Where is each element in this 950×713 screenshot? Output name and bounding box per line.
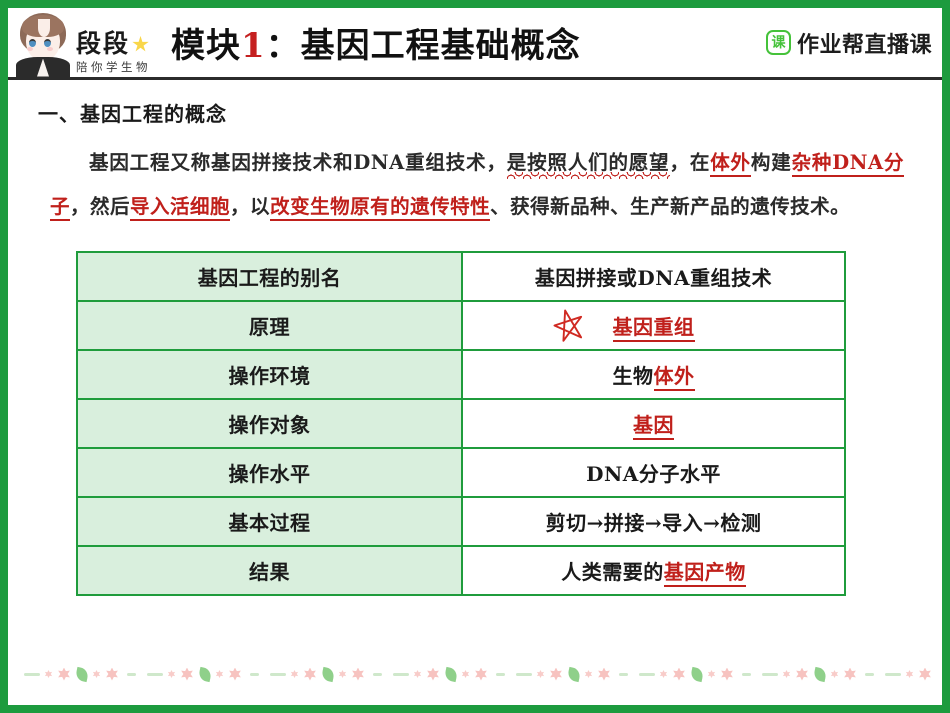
value-plain: 剪切→拼接→导入→检测 <box>546 511 762 535</box>
flower-icon <box>216 670 224 678</box>
table-cell-value: 基因 <box>462 399 845 448</box>
table-cell-value: 剪切→拼接→导入→检测 <box>462 497 845 546</box>
logo-tagline: 陪你学生物 <box>76 59 151 75</box>
deco-unit <box>291 668 412 681</box>
para-highlight-4: 改变生物原有的遗传特性 <box>270 195 490 221</box>
flower-icon <box>181 668 194 681</box>
flower-icon <box>304 668 317 681</box>
para-highlight-1: 体外 <box>710 151 751 177</box>
decoration-strip <box>16 668 934 681</box>
flower-icon <box>414 670 422 678</box>
flower-icon <box>475 668 488 681</box>
table-row: 基本过程 剪切→拼接→导入→检测 <box>77 497 845 546</box>
table-body: 基因工程的别名 基因拼接或DNA重组技术 原理 基因重组 操作环境 <box>77 252 845 595</box>
avatar <box>14 9 72 77</box>
concept-paragraph: 基因工程又称基因拼接技术和DNA重组技术，是按照人们的愿望，在体外构建杂种DNA… <box>50 141 904 229</box>
deco-unit <box>16 668 43 681</box>
table-row: 基因工程的别名 基因拼接或DNA重组技术 <box>77 252 845 301</box>
logo-name: 段段 <box>76 31 130 57</box>
flower-icon <box>673 668 686 681</box>
dash-icon <box>270 673 286 676</box>
value-highlight: 基因 <box>633 413 674 440</box>
deco-unit <box>537 668 658 681</box>
logo-text-block: 段段 陪你学生物 <box>76 31 151 76</box>
dash-icon <box>762 673 778 676</box>
dash-icon <box>885 673 901 676</box>
hand-drawn-star-icon <box>545 301 593 349</box>
flower-icon <box>352 668 365 681</box>
para-seg-1: 基因工程又称基因拼接技术和DNA重组技术， <box>89 151 507 174</box>
brand-name: 作业帮直播课 <box>797 27 932 59</box>
avatar-blush-right-icon <box>47 47 53 51</box>
table-cell-key: 操作对象 <box>77 399 462 448</box>
dash-icon <box>865 673 874 676</box>
leaf-icon <box>689 666 703 681</box>
deco-unit <box>783 668 904 681</box>
flower-icon <box>45 670 53 678</box>
leaf-icon <box>443 666 457 681</box>
value-highlight: 基因产物 <box>664 560 746 587</box>
table-cell-key: 操作环境 <box>77 350 462 399</box>
flower-icon <box>844 668 857 681</box>
deco-unit <box>414 668 535 681</box>
para-seg-5: ，以 <box>230 195 270 218</box>
para-wavy-emphasis: 是按照人们的愿望 <box>507 151 670 174</box>
table-row: 操作对象 基因 <box>77 399 845 448</box>
para-highlight-3: 导入活细胞 <box>130 195 230 221</box>
title-prefix: 模块 <box>171 26 241 66</box>
dash-icon <box>639 673 655 676</box>
table-cell-value: 基因拼接或DNA重组技术 <box>462 252 845 301</box>
value-highlight: 体外 <box>654 364 695 391</box>
brand-logo: 课 作业帮直播课 <box>766 27 932 59</box>
table-row: 结果 人类需要的基因产物 <box>77 546 845 595</box>
gene-engineering-table: 基因工程的别名 基因拼接或DNA重组技术 原理 基因重组 操作环境 <box>76 251 846 596</box>
table-cell-key: 操作水平 <box>77 448 462 497</box>
table-row: 操作水平 DNA分子水平 <box>77 448 845 497</box>
flower-icon <box>783 670 791 678</box>
value-plain: 生物 <box>613 364 654 388</box>
table-cell-key: 基因工程的别名 <box>77 252 462 301</box>
flower-icon <box>537 670 545 678</box>
flower-icon <box>462 670 470 678</box>
leaf-icon <box>74 666 88 681</box>
course-badge-icon: 课 <box>766 30 791 55</box>
slide-frame: 段段 陪你学生物 模块1：基因工程基础概念 课 作业帮直播课 一、基因工程的概念… <box>0 0 950 713</box>
title-number: 1 <box>241 26 266 66</box>
flower-icon <box>106 668 119 681</box>
table-cell-key: 结果 <box>77 546 462 595</box>
leaf-icon <box>812 666 826 681</box>
flower-icon <box>585 670 593 678</box>
para-seg-2: ，在 <box>670 151 711 174</box>
avatar-eye-left-icon <box>29 39 36 47</box>
para-seg-3: 构建 <box>751 151 792 174</box>
section-heading: 一、基因工程的概念 <box>38 98 918 127</box>
deco-unit <box>168 668 289 681</box>
deco-unit <box>660 668 781 681</box>
flower-icon <box>708 670 716 678</box>
flower-icon <box>598 668 611 681</box>
dash-icon <box>147 673 163 676</box>
slide-body: 一、基因工程的概念 基因工程又称基因拼接技术和DNA重组技术，是按照人们的愿望，… <box>8 80 942 229</box>
flower-icon <box>229 668 242 681</box>
flower-icon <box>550 668 563 681</box>
dash-icon <box>619 673 628 676</box>
para-seg-6: 、获得新品种、生产新产品的遗传技术。 <box>490 195 850 218</box>
dash-icon <box>127 673 136 676</box>
flower-icon <box>796 668 809 681</box>
table-cell-key: 原理 <box>77 301 462 350</box>
dash-icon <box>24 673 40 676</box>
avatar-body-icon <box>16 57 70 77</box>
title-rest: ：基因工程基础概念 <box>266 26 581 66</box>
dash-icon <box>742 673 751 676</box>
dash-icon <box>516 673 532 676</box>
deco-unit <box>906 668 935 681</box>
table-row: 原理 基因重组 <box>77 301 845 350</box>
leaf-icon <box>566 666 580 681</box>
dash-icon <box>250 673 259 676</box>
dash-icon <box>496 673 505 676</box>
flower-icon <box>427 668 440 681</box>
flower-icon <box>660 670 668 678</box>
flower-icon <box>291 670 299 678</box>
flower-icon <box>339 670 347 678</box>
para-seg-4: ，然后 <box>70 195 130 218</box>
page-title: 模块1：基因工程基础概念 <box>157 18 766 67</box>
flower-icon <box>58 668 71 681</box>
star-icon <box>132 36 149 53</box>
avatar-fringe-icon <box>22 15 64 37</box>
table-row: 操作环境 生物体外 <box>77 350 845 399</box>
avatar-eye-right-icon <box>44 39 51 47</box>
flower-icon <box>721 668 734 681</box>
dash-icon <box>373 673 382 676</box>
value-highlight: 基因重组 <box>613 315 695 342</box>
flower-icon <box>168 670 176 678</box>
leaf-icon <box>320 666 334 681</box>
footer-decoration <box>16 651 934 697</box>
logo-name-row: 段段 <box>76 31 151 57</box>
dash-icon <box>393 673 409 676</box>
avatar-blush-left-icon <box>27 47 33 51</box>
flower-icon <box>919 668 932 681</box>
value-plain: 人类需要的 <box>561 560 664 584</box>
table-cell-value: 基因重组 <box>462 301 845 350</box>
teacher-logo: 段段 陪你学生物 <box>14 9 157 77</box>
flower-icon <box>906 670 914 678</box>
table-cell-value: 人类需要的基因产物 <box>462 546 845 595</box>
value-plain: 基因拼接或DNA重组技术 <box>535 266 772 290</box>
flower-icon <box>93 670 101 678</box>
value-plain: DNA分子水平 <box>586 462 721 486</box>
table-cell-value: DNA分子水平 <box>462 448 845 497</box>
flower-icon <box>831 670 839 678</box>
slide-header: 段段 陪你学生物 模块1：基因工程基础概念 课 作业帮直播课 <box>8 8 942 80</box>
leaf-icon <box>197 666 211 681</box>
deco-unit <box>45 668 166 681</box>
table-cell-value: 生物体外 <box>462 350 845 399</box>
info-table-wrap: 基因工程的别名 基因拼接或DNA重组技术 原理 基因重组 操作环境 <box>76 251 918 596</box>
table-cell-key: 基本过程 <box>77 497 462 546</box>
